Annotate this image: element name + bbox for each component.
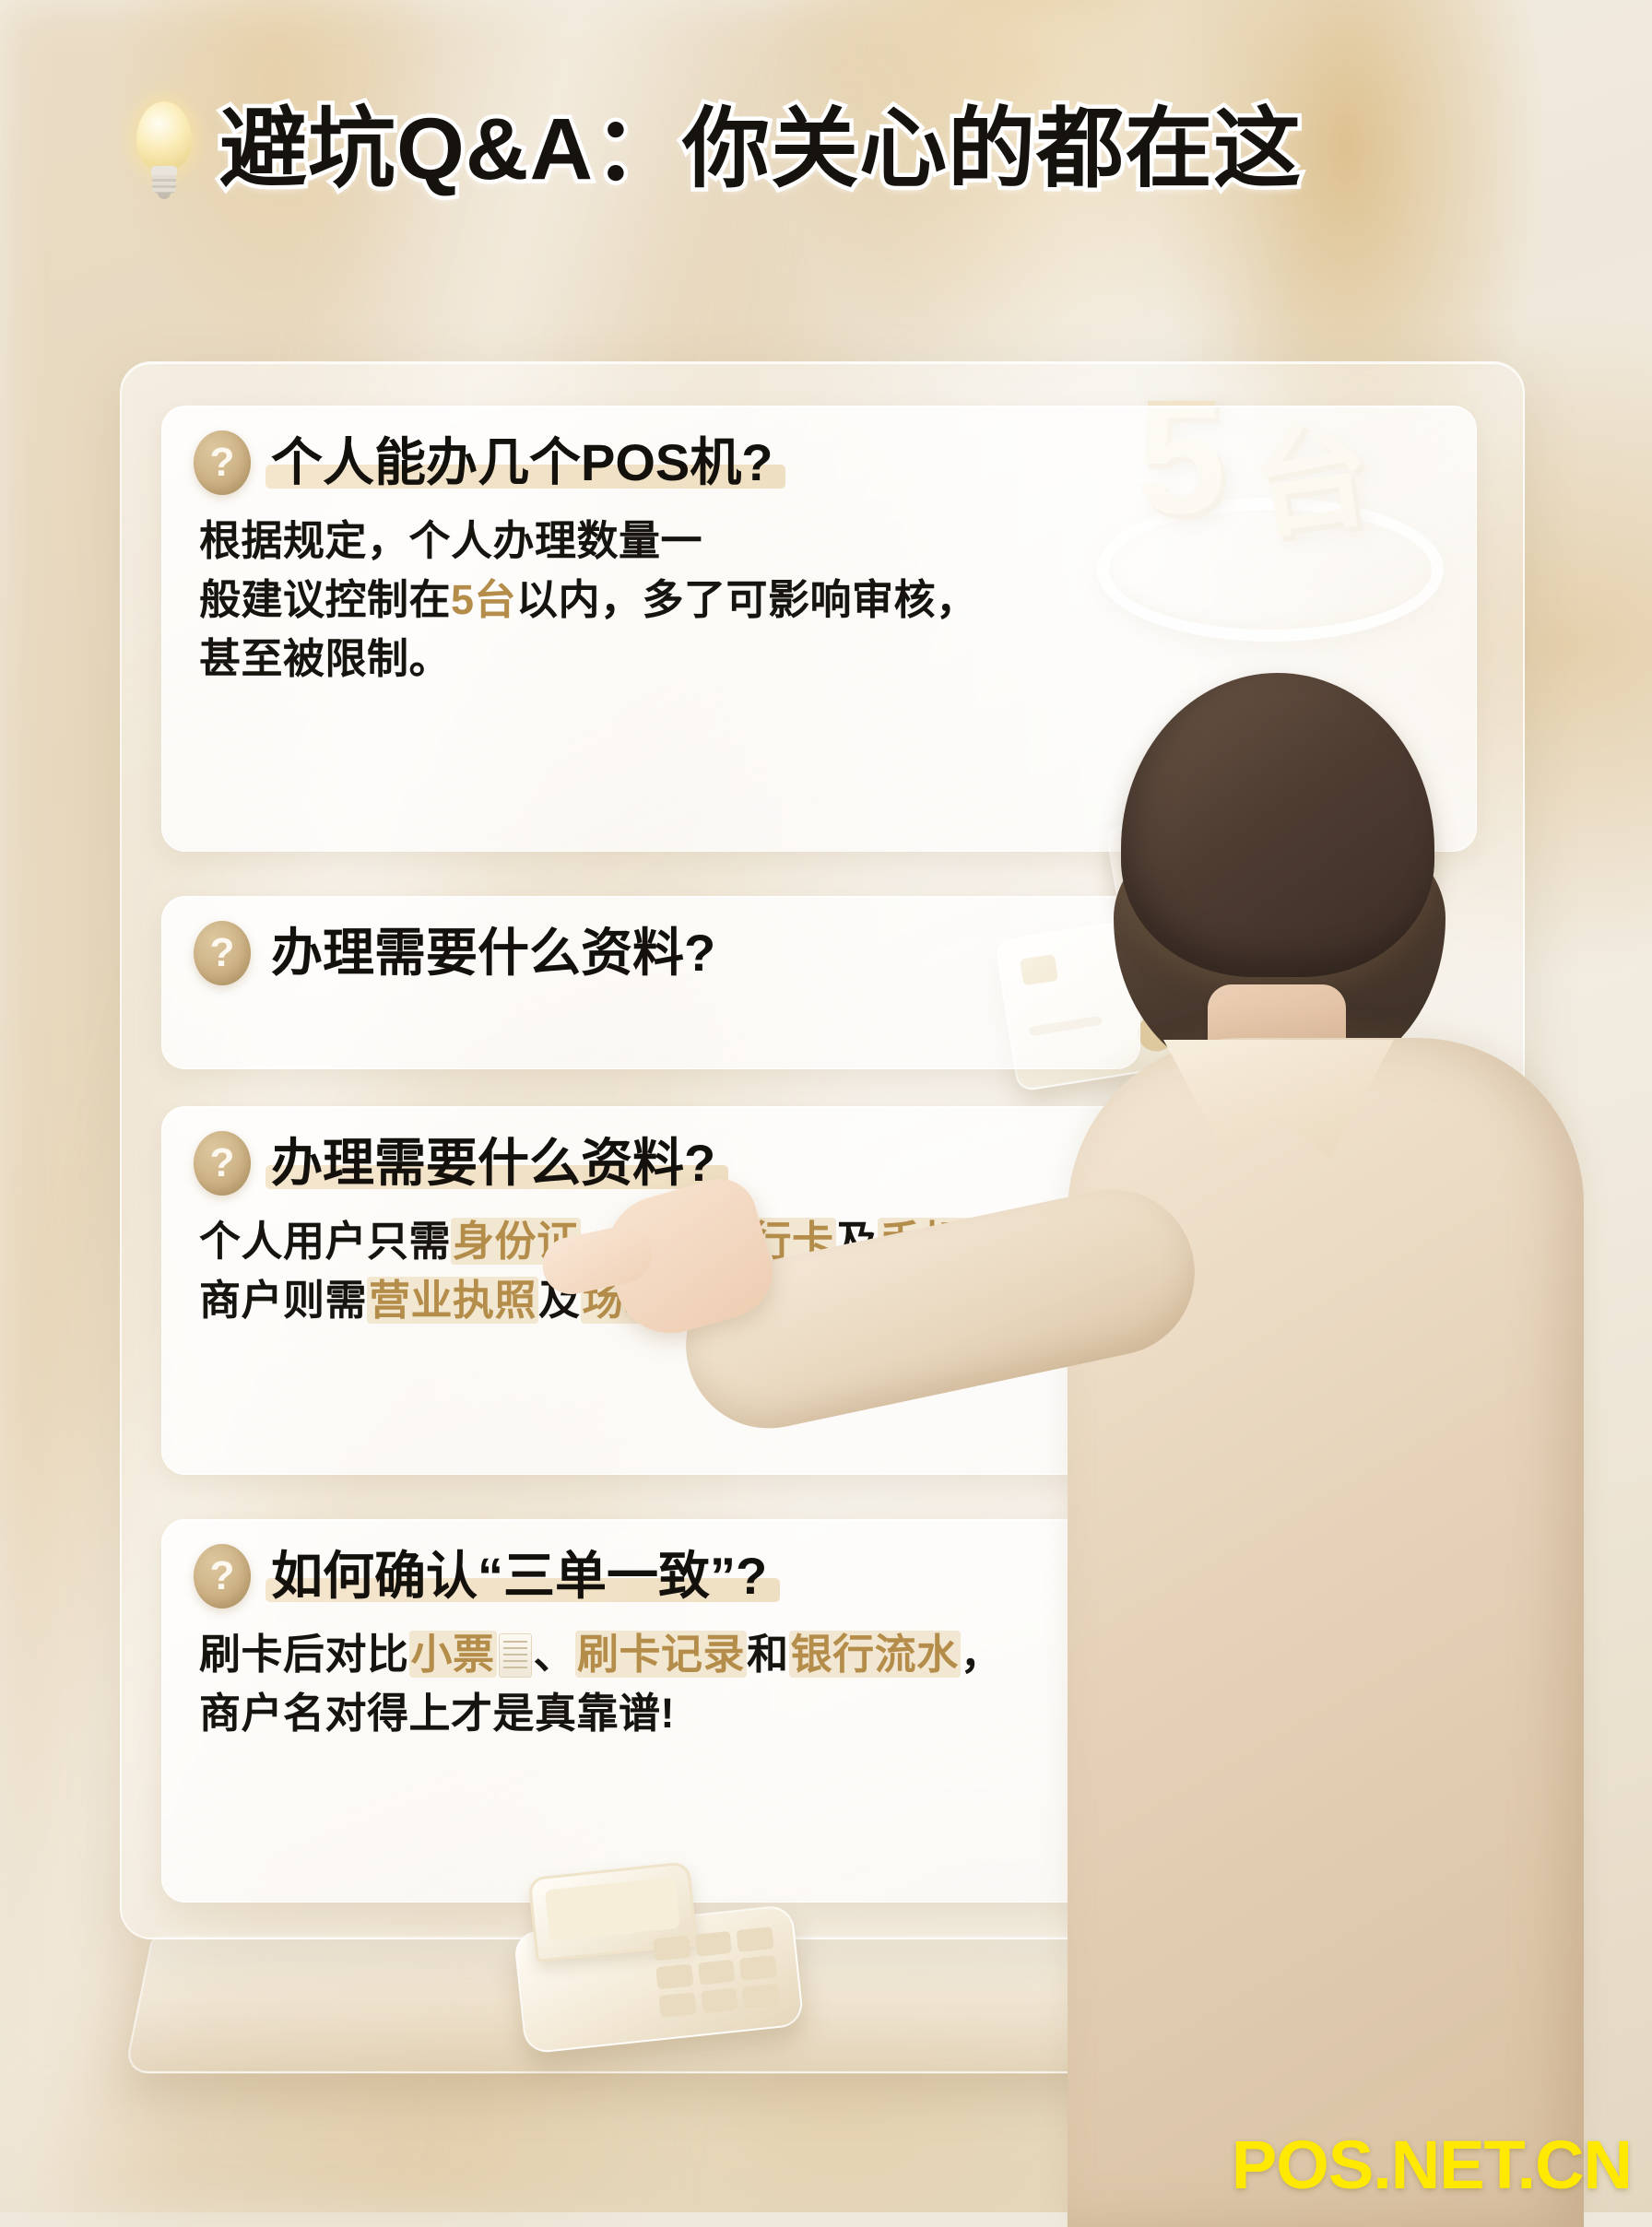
qa-answer-run: 银行流水 [789, 1631, 961, 1678]
qa-answer-line: 商户则需营业执照及场地照片等。📷 [199, 1271, 1435, 1330]
receipt-icon [499, 1633, 532, 1678]
qa-answer-run: 、 [534, 1631, 576, 1678]
qa-answer-line: 根据规定，个人办理数量一 [199, 512, 1435, 571]
qa-question-text: 办理需要什么资料? [271, 924, 715, 982]
qa-answer-run: 小票 [409, 1631, 497, 1678]
pos-terminal-illustration [507, 1848, 829, 2063]
qa-question: 个人能办几个POS机? [271, 435, 773, 490]
page-title-text: 避坑Q&A：你关心的都在这 [219, 106, 1302, 194]
qa-card[interactable]: ? 个人能办几个POS机? 根据规定，个人办理数量一般建议控制在5台以内，多了可… [161, 406, 1477, 852]
qa-answer-run: 以内，多了可影响审核， [516, 576, 978, 623]
qa-answer-run: ； [1008, 1218, 1050, 1265]
lightbulb-icon [129, 101, 199, 197]
watermark: POS.NET.CN [1232, 2131, 1632, 2199]
qa-question-text: 如何确认“三单一致”? [271, 1547, 767, 1605]
qa-answer-run: 手机号 [878, 1218, 1008, 1265]
qa-answer-line: 刷卡后对比小票、刷卡记录和银行流水， [199, 1625, 1435, 1684]
qa-answer-run: 、本人 [581, 1218, 707, 1265]
qa-card-header: ? 办理需要什么资料? [162, 1107, 1476, 1196]
qa-answer-run: 场地照片 [581, 1277, 752, 1324]
qa-answer-run: 身份证 [451, 1218, 581, 1265]
qa-answer-run: 刷卡后对比 [199, 1631, 409, 1678]
qa-answer-run: 和 [747, 1631, 789, 1678]
qa-answer-run: 刷卡记录 [575, 1631, 747, 1678]
qa-answer-run: 等。 [752, 1277, 836, 1324]
qa-question: 办理需要什么资料? [271, 1136, 715, 1191]
qa-question-text: 个人能办几个POS机? [271, 433, 773, 491]
qa-answer-run: 商户名对得上才是真靠谱! [199, 1690, 675, 1737]
camera-icon: 📷 [836, 1284, 880, 1323]
qa-answer-line: 商户名对得上才是真靠谱! [199, 1684, 1435, 1743]
qa-answer: 个人用户只需身份证、本人银行卡及手机号；商户则需营业执照及场地照片等。📷 [162, 1196, 1476, 1330]
qa-answer-run: 营业执照 [367, 1277, 538, 1324]
page-title: 避坑Q&A：你关心的都在这 [129, 101, 1302, 197]
qa-answer-run: 商户则需 [199, 1277, 367, 1324]
qa-question: 如何确认“三单一致”? [271, 1549, 767, 1604]
qa-card-header: ? 个人能办几个POS机? [162, 407, 1476, 495]
qa-answer-line: 甚至被限制。 [199, 630, 1435, 689]
question-badge-icon: ? [194, 1544, 251, 1608]
qa-card-header: ? 办理需要什么资料? [162, 897, 1139, 985]
qa-question-text: 办理需要什么资料? [271, 1134, 715, 1192]
qa-answer: 刷卡后对比小票、刷卡记录和银行流水，商户名对得上才是真靠谱! [162, 1608, 1476, 1743]
qa-answer-run: ， [961, 1631, 1003, 1678]
question-badge-icon: ? [194, 921, 251, 985]
question-badge-icon: ? [194, 430, 251, 495]
qa-card[interactable]: ? 办理需要什么资料? 个人用户只需身份证、本人银行卡及手机号；商户则需营业执照… [161, 1106, 1477, 1475]
qa-answer-run: 般建议控制在 [199, 576, 451, 623]
qa-answer-run: 5台 [451, 576, 516, 623]
qa-card-header: ? 如何确认“三单一致”? [162, 1520, 1476, 1608]
qa-answer-run: 个人用户只需 [199, 1218, 451, 1265]
qa-answer-line: 个人用户只需身份证、本人银行卡及手机号； [199, 1212, 1435, 1271]
qa-question: 办理需要什么资料? [271, 925, 715, 981]
qa-answer: 根据规定，个人办理数量一般建议控制在5台以内，多了可影响审核，甚至被限制。 [162, 495, 1476, 689]
qa-answer-run: 及 [836, 1218, 879, 1265]
question-badge-icon: ? [194, 1131, 251, 1196]
qa-card[interactable]: ? 如何确认“三单一致”? 刷卡后对比小票、刷卡记录和银行流水，商户名对得上才是… [161, 1519, 1477, 1903]
qa-answer-run: 甚至被限制。 [199, 635, 451, 682]
qa-answer-run: 银行卡 [706, 1218, 836, 1265]
qa-card[interactable]: ? 办理需要什么资料? [161, 896, 1140, 1069]
qa-answer-line: 般建议控制在5台以内，多了可影响审核， [199, 571, 1435, 630]
qa-answer-run: 根据规定，个人办理数量一 [199, 517, 702, 564]
qa-answer-run: 及 [538, 1277, 581, 1324]
